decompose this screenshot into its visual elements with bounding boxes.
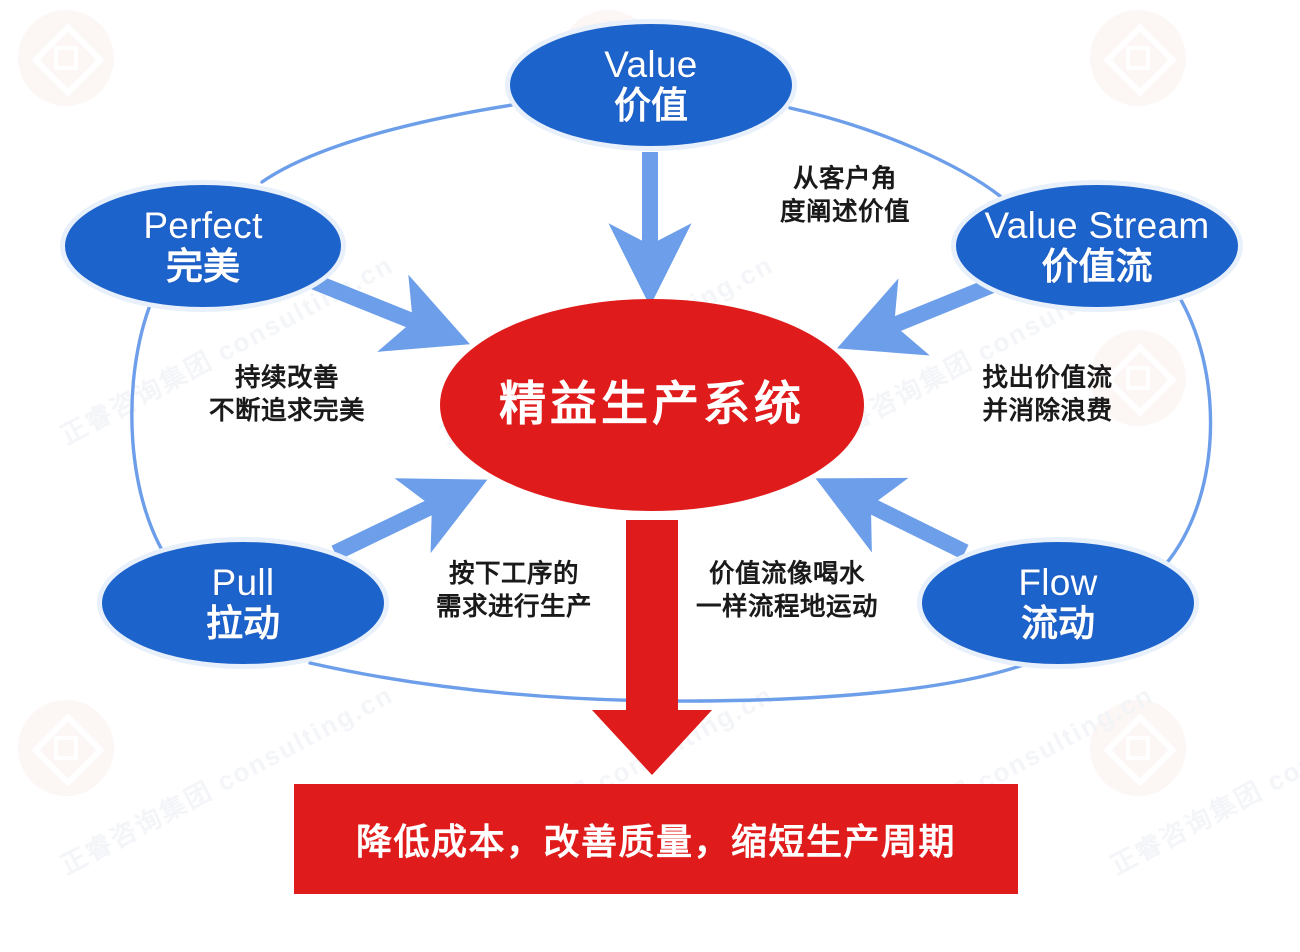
node-flow[interactable]: [917, 537, 1199, 669]
ring-segment-perfect-pull: [132, 300, 175, 570]
annotation-value-line2: 度阐述价值: [745, 196, 945, 229]
outcome-banner-label: 降低成本，改善质量，缩短生产周期: [294, 813, 1018, 865]
diagram-canvas: 正睿咨询集团 consulting.cn 正睿咨询集团 consulting.c…: [0, 0, 1300, 952]
outcome-banner-wrap: 降低成本，改善质量，缩短生产周期: [294, 784, 1018, 894]
annotation-perfect: 持续改善 不断追求完美: [182, 362, 392, 428]
annotation-pull: 按下工序的 需求进行生产: [414, 558, 614, 624]
arrow-flow-to-center: [833, 487, 965, 552]
ring-segment-value-perfect: [262, 105, 512, 182]
arrow-valuestream-to-center: [855, 282, 1000, 341]
annotation-value-stream: 找出价值流 并消除浪费: [955, 362, 1140, 428]
node-perfect[interactable]: [60, 180, 346, 312]
annotation-perfect-line1: 持续改善: [182, 362, 392, 395]
annotation-value-stream-line1: 找出价值流: [955, 362, 1140, 395]
arrow-perfect-to-center: [305, 278, 452, 337]
annotation-value-line1: 从客户角: [745, 163, 945, 196]
node-value-stream[interactable]: [951, 180, 1243, 312]
node-value[interactable]: [505, 19, 797, 151]
arrow-pull-to-center: [335, 488, 470, 553]
annotation-flow-line1: 价值流像喝水: [673, 558, 901, 591]
annotation-pull-line2: 需求进行生产: [414, 591, 614, 624]
center-title: 精益生产系统: [452, 378, 852, 430]
annotation-flow: 价值流像喝水 一样流程地运动: [673, 558, 901, 624]
annotation-pull-line1: 按下工序的: [414, 558, 614, 591]
annotation-value: 从客户角 度阐述价值: [745, 163, 945, 229]
annotation-flow-line2: 一样流程地运动: [673, 591, 901, 624]
ring-segment-flow-bottom: [700, 665, 1023, 701]
node-pull[interactable]: [97, 537, 389, 669]
annotation-perfect-line2: 不断追求完美: [182, 395, 392, 428]
annotation-value-stream-line2: 并消除浪费: [955, 395, 1140, 428]
ring-segment-valuestream-flow: [1165, 300, 1211, 565]
